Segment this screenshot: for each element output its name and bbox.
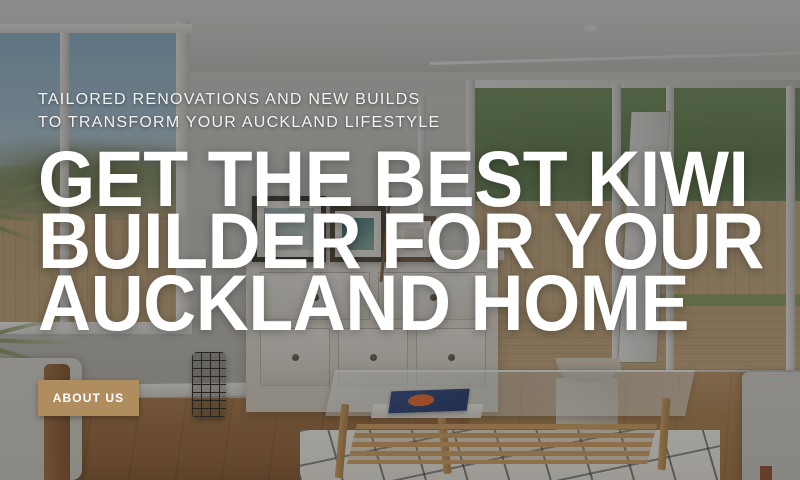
hero-subtitle-line-1: Tailored renovations and new builds: [38, 91, 420, 108]
hero-headline-line-3: Auckland home: [38, 272, 726, 334]
hero-content: Tailored renovations and new builds to t…: [38, 88, 778, 334]
hero-subtitle: Tailored renovations and new builds to t…: [38, 88, 778, 134]
hero-banner: Tailored renovations and new builds to t…: [0, 0, 800, 480]
about-us-button[interactable]: About Us: [38, 380, 139, 416]
hero-headline: Get the best Kiwi Builder for your Auckl…: [38, 148, 726, 334]
about-us-button-label: About Us: [53, 391, 124, 405]
hero-subtitle-line-2: to transform your Auckland lifestyle: [38, 114, 440, 131]
